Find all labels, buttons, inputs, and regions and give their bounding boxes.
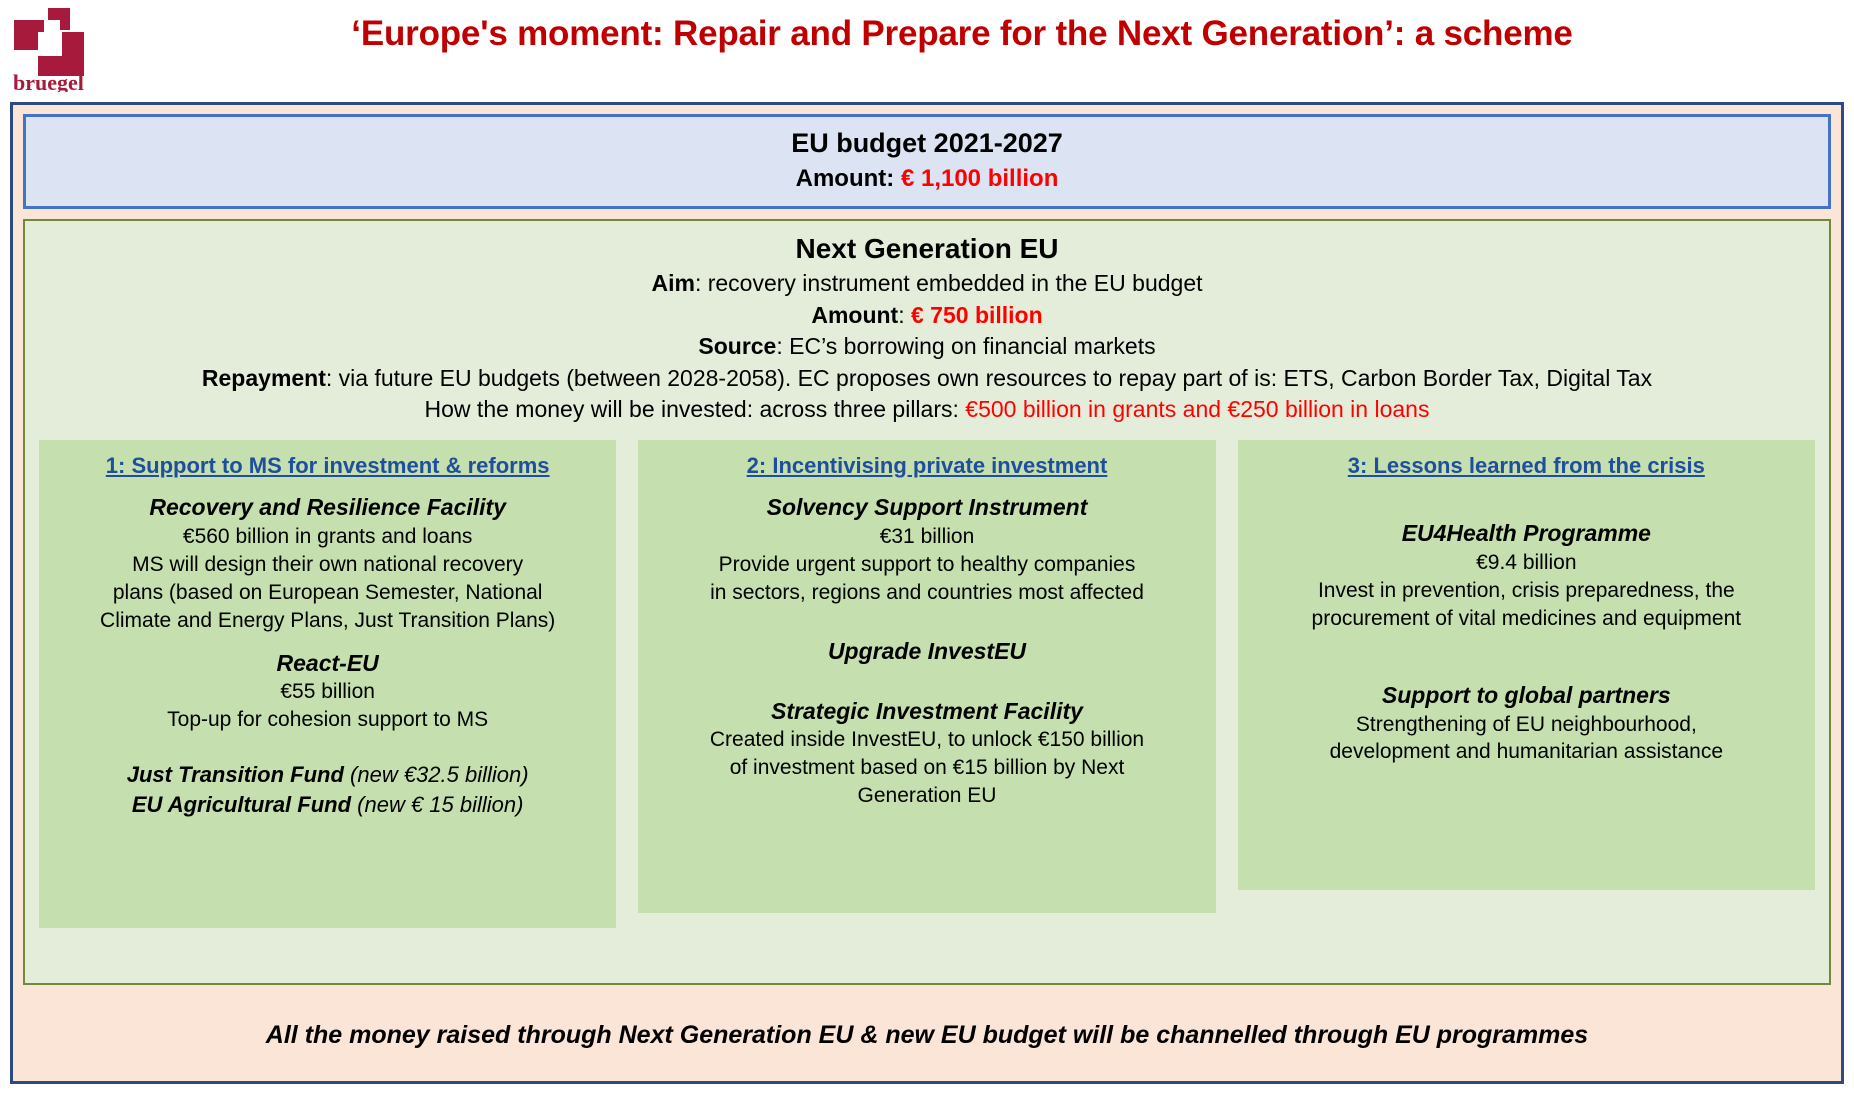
pillar-1-fund-1: Just Transition Fund (new €32.5 billion) <box>47 760 608 790</box>
bruegel-wordmark: bruegel <box>13 70 84 92</box>
bruegel-logo: bruegel <box>12 6 98 92</box>
pillar-3-block-2-line-1: Strengthening of EU neighbourhood, <box>1246 711 1807 739</box>
pillar-1-block-2-line-1: €55 billion <box>47 678 608 706</box>
ngeu-row-source: Source: EC’s borrowing on financial mark… <box>25 331 1829 363</box>
pillar-1-fund-2-amount: (new € 15 billion) <box>351 792 523 817</box>
ngeu-amount-sep: : <box>898 302 911 328</box>
ngeu-investment-split: €500 billion in grants and €250 billion … <box>965 396 1429 422</box>
header: bruegel ‘Europe's moment: Repair and Pre… <box>0 0 1854 100</box>
pillar-1-block-1-line-1: €560 billion in grants and loans <box>47 523 608 551</box>
eu-budget-box: EU budget 2021-2027 Amount: € 1,100 bill… <box>23 114 1831 209</box>
next-generation-eu-box: Next Generation EU Aim: recovery instrum… <box>23 219 1831 985</box>
scheme-frame: EU budget 2021-2027 Amount: € 1,100 bill… <box>10 102 1844 1084</box>
pillar-3-block-1-line-1: €9.4 billion <box>1246 549 1807 577</box>
pillar-2-block-1-line-1: €31 billion <box>646 523 1207 551</box>
pillar-2: 2: Incentivising private investment Solv… <box>638 440 1215 913</box>
infographic-page: bruegel ‘Europe's moment: Repair and Pre… <box>0 0 1854 1094</box>
pillar-1-spacer <box>47 734 608 760</box>
pillar-2-block-3-line-2: of investment based on €15 billion by Ne… <box>646 754 1207 782</box>
pillar-3-block-2-line-2: development and humanitarian assistance <box>1246 738 1807 766</box>
ngeu-amount-label: Amount <box>811 302 898 328</box>
pillar-2-block-3-line-1: Created inside InvestEU, to unlock €150 … <box>646 726 1207 754</box>
ngeu-row-amount: Amount: € 750 billion <box>25 300 1829 332</box>
pillar-1: 1: Support to MS for investment & reform… <box>39 440 616 928</box>
pillar-1-fund-2-name: EU Agricultural Fund <box>132 792 351 817</box>
footer-text: All the money raised through Next Genera… <box>266 1021 1588 1050</box>
eu-budget-amount-sep: : <box>886 165 901 192</box>
eu-budget-amount-label: Amount <box>796 165 887 192</box>
pillar-2-block-2-title: Upgrade InvestEU <box>646 637 1207 667</box>
pillar-3: 3: Lessons learned from the crisis EU4He… <box>1238 440 1815 890</box>
ngeu-repayment-sep: : <box>326 365 339 391</box>
pillar-1-block-1-title: Recovery and Resilience Facility <box>47 493 608 523</box>
pillar-2-heading: 2: Incentivising private investment <box>646 452 1207 480</box>
pillar-2-spacer-1 <box>646 607 1207 623</box>
ngeu-row-investment: How the money will be invested: across t… <box>25 394 1829 426</box>
pillar-1-block-1-line-2: MS will design their own national recove… <box>47 551 608 579</box>
pillar-1-fund-1-amount: (new €32.5 billion) <box>344 762 529 787</box>
eu-budget-title: EU budget 2021-2027 <box>791 127 1063 161</box>
pillar-2-block-1-line-3: in sectors, regions and countries most a… <box>646 579 1207 607</box>
pillar-2-block-3-line-3: Generation EU <box>646 782 1207 810</box>
page-title: ‘Europe's moment: Repair and Prepare for… <box>110 14 1814 54</box>
pillar-2-block-1-title: Solvency Support Instrument <box>646 493 1207 523</box>
ngeu-row-aim: Aim: recovery instrument embedded in the… <box>25 268 1829 300</box>
footer-banner: All the money raised through Next Genera… <box>13 989 1841 1081</box>
eu-budget-amount-value: € 1,100 billion <box>901 165 1058 192</box>
pillar-3-block-1-line-2: Invest in prevention, crisis preparednes… <box>1246 577 1807 605</box>
pillar-3-spacer-2 <box>1246 633 1807 667</box>
ngeu-amount-value: € 750 billion <box>911 302 1043 328</box>
pillar-3-heading: 3: Lessons learned from the crisis <box>1246 452 1807 480</box>
eu-budget-amount-row: Amount: € 1,100 billion <box>796 163 1059 195</box>
pillar-1-block-1-line-3: plans (based on European Semester, Natio… <box>47 579 608 607</box>
pillar-1-fund-2: EU Agricultural Fund (new € 15 billion) <box>47 790 608 820</box>
pillar-3-block-1-title: EU4Health Programme <box>1246 519 1807 549</box>
ngeu-title: Next Generation EU <box>25 231 1829 266</box>
pillar-1-block-2-line-2: Top-up for cohesion support to MS <box>47 706 608 734</box>
ngeu-source-text: EC’s borrowing on financial markets <box>789 333 1155 359</box>
ngeu-aim-text: recovery instrument embedded in the EU b… <box>708 270 1203 296</box>
pillar-3-block-2-title: Support to global partners <box>1246 681 1807 711</box>
ngeu-repayment-text: via future EU budgets (between 2028-2058… <box>339 365 1652 391</box>
pillar-2-block-1-line-2: Provide urgent support to healthy compan… <box>646 551 1207 579</box>
pillar-2-block-3-title: Strategic Investment Facility <box>646 697 1207 727</box>
ngeu-source-label: Source <box>698 333 776 359</box>
pillar-1-block-1-line-4: Climate and Energy Plans, Just Transitio… <box>47 607 608 635</box>
pillar-3-spacer-1 <box>1246 489 1807 505</box>
ngeu-aim-label: Aim <box>651 270 694 296</box>
bruegel-logo-mark: bruegel <box>12 6 98 92</box>
ngeu-aim-sep: : <box>695 270 708 296</box>
ngeu-row-repayment: Repayment: via future EU budgets (betwee… <box>25 363 1829 395</box>
pillars-row: 1: Support to MS for investment & reform… <box>25 426 1829 984</box>
pillar-2-spacer-2 <box>646 667 1207 683</box>
pillar-1-block-2-title: React-EU <box>47 649 608 679</box>
pillar-3-block-1-line-3: procurement of vital medicines and equip… <box>1246 605 1807 633</box>
pillar-1-heading: 1: Support to MS for investment & reform… <box>47 452 608 480</box>
ngeu-repayment-label: Repayment <box>202 365 326 391</box>
ngeu-investment-text: How the money will be invested: across t… <box>425 396 966 422</box>
pillar-1-fund-1-name: Just Transition Fund <box>127 762 344 787</box>
ngeu-source-sep: : <box>776 333 789 359</box>
